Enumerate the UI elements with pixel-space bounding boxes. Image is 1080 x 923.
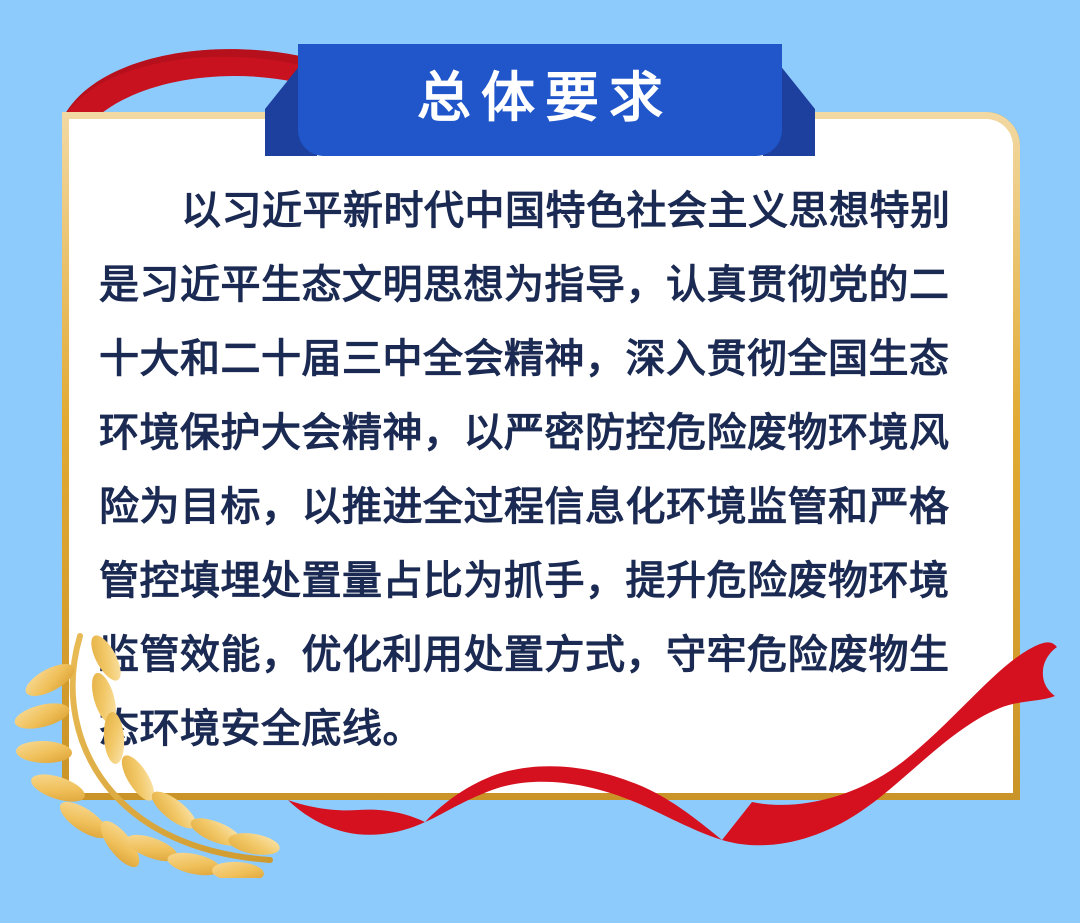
content-card-surface: 以习近平新时代中国特色社会主义思想特别 是习近平生态文明思想为指导，认真贯彻党的… <box>69 119 1013 793</box>
title-banner: 总体要求 <box>265 44 815 156</box>
wheat-leaf-group-lower <box>123 829 264 878</box>
body-line-8: 态环境安全底线。 <box>99 692 999 766</box>
content-card: 以习近平新时代中国特色社会主义思想特别 是习近平生态文明思想为指导，认真贯彻党的… <box>62 112 1020 800</box>
body-line-1: 以习近平新时代中国特色社会主义思想特别 <box>99 174 999 248</box>
body-line-7: 监管效能，优化利用处置方式，守牢危险废物生 <box>99 618 999 692</box>
body-line-6: 管控填埋处置量占比为抓手，提升危险废物环境 <box>99 544 999 618</box>
poster-canvas: 以习近平新时代中国特色社会主义思想特别 是习近平生态文明思想为指导，认真贯彻党的… <box>0 0 1080 923</box>
body-line-4: 环境保护大会精神，以严密防控危险废物环境风 <box>99 396 999 470</box>
page-title: 总体要求 <box>407 71 673 129</box>
body-line-2: 是习近平生态文明思想为指导，认真贯彻党的二 <box>99 248 999 322</box>
body-line-3: 十大和二十届三中全会精神，深入贯彻全国生态 <box>99 322 999 396</box>
body-line-text: 以习近平新时代中国特色社会主义思想特别 <box>181 189 951 233</box>
body-paragraph: 以习近平新时代中国特色社会主义思想特别 是习近平生态文明思想为指导，认真贯彻党的… <box>99 174 999 766</box>
body-line-5: 险为目标，以推进全过程信息化环境监管和严格 <box>99 470 999 544</box>
banner-body: 总体要求 <box>298 44 782 156</box>
